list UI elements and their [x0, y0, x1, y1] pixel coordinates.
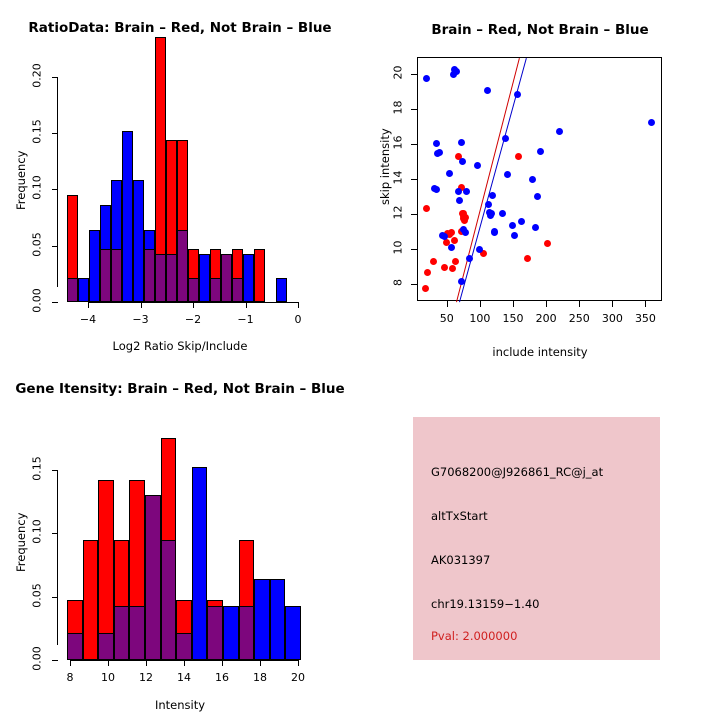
scatter-point-brain	[544, 240, 551, 247]
histogram-bar	[192, 467, 208, 660]
xtick-mark	[184, 660, 185, 666]
histogram-bar	[89, 230, 100, 302]
scatter-point-not-brain	[466, 255, 473, 262]
histogram-bar-overlap	[221, 254, 232, 302]
histogram-bar-overlap	[188, 278, 199, 302]
ratio-histogram-panel: RatioData: Brain – Red, Not Brain – Blue…	[0, 0, 360, 360]
gene-info-panel: G7068200@J926861_RC@j_at altTxStart AK03…	[413, 417, 660, 660]
ytick-label: 0.05	[31, 580, 44, 610]
scatter-point-not-brain	[448, 244, 455, 251]
scatter-point-not-brain	[458, 139, 465, 146]
ytick-label: 14	[392, 166, 405, 190]
xtick-label: −1	[232, 313, 260, 326]
xtick-label: 8	[56, 671, 84, 684]
gene-intensity-xlabel: Intensity	[0, 698, 360, 712]
histogram-bar-overlap	[232, 278, 243, 302]
scatter-point-brain	[524, 255, 531, 262]
histogram-bar-overlap	[100, 249, 111, 302]
ytick-label: 0.10	[31, 173, 44, 203]
intensity-scatter-plot-area	[417, 57, 662, 301]
scatter-point-brain	[460, 210, 467, 217]
ytick-mark	[411, 214, 417, 215]
scatter-point-not-brain	[511, 232, 518, 239]
ytick-mark	[52, 189, 58, 190]
histogram-bar	[270, 579, 286, 660]
histogram-bar-overlap	[155, 254, 166, 302]
xtick-mark	[298, 660, 299, 666]
histogram-bar	[243, 254, 254, 302]
xtick-mark	[612, 301, 613, 307]
ytick-mark	[411, 144, 417, 145]
scatter-point-brain	[423, 205, 430, 212]
histogram-bar	[223, 606, 239, 660]
ratio-histogram-plot-area	[62, 55, 307, 287]
histogram-bar-overlap	[67, 278, 78, 302]
ytick-label: 0.15	[31, 454, 44, 484]
scatter-point-not-brain	[484, 87, 491, 94]
ytick-mark	[52, 660, 58, 661]
scatter-point-not-brain	[455, 188, 462, 195]
histogram-bar-overlap	[67, 633, 83, 660]
ytick-mark	[52, 470, 58, 471]
info-locus: chr19.13159−1.40	[431, 597, 539, 611]
scatter-point-not-brain	[518, 218, 525, 225]
scatter-point-not-brain	[537, 148, 544, 155]
xtick-mark	[546, 301, 547, 307]
xtick-label: 350	[627, 312, 663, 325]
gene-intensity-histogram-panel: Gene Itensity: Brain – Red, Not Brain – …	[0, 360, 360, 720]
histogram-bar	[122, 131, 133, 302]
scatter-point-not-brain	[423, 75, 430, 82]
xtick-label: 12	[132, 671, 160, 684]
scatter-point-not-brain	[532, 224, 539, 231]
ytick-mark	[411, 109, 417, 110]
ytick-mark	[52, 246, 58, 247]
ytick-label: 0.10	[31, 517, 44, 547]
scatter-point-not-brain	[453, 68, 460, 75]
histogram-bar-overlap	[176, 633, 192, 660]
histogram-bar	[78, 278, 89, 302]
xtick-mark	[513, 301, 514, 307]
xtick-label: 14	[170, 671, 198, 684]
histogram-bar	[276, 278, 287, 302]
xtick-label: 16	[208, 671, 236, 684]
scatter-point-not-brain	[474, 162, 481, 169]
ytick-label: 0.15	[31, 116, 44, 146]
scatter-point-brain	[422, 285, 429, 292]
scatter-point-not-brain	[504, 171, 511, 178]
scatter-point-brain	[424, 269, 431, 276]
ratio-histogram-yaxis	[57, 77, 58, 288]
histogram-bar	[83, 540, 99, 660]
scatter-point-brain	[452, 258, 459, 265]
xtick-label: 50	[429, 312, 465, 325]
histogram-bar	[254, 249, 265, 302]
info-probe-id: G7068200@J926861_RC@j_at	[431, 465, 603, 479]
intensity-scatter-title: Brain – Red, Not Brain – Blue	[360, 22, 720, 38]
scatter-point-not-brain	[485, 201, 492, 208]
scatter-point-brain	[451, 237, 458, 244]
ytick-mark	[52, 533, 58, 534]
scatter-point-not-brain	[488, 210, 495, 217]
xtick-mark	[246, 302, 247, 308]
gene-intensity-title: Gene Itensity: Brain – Red, Not Brain – …	[0, 381, 360, 397]
ytick-mark	[411, 74, 417, 75]
ratio-histogram-title: RatioData: Brain – Red, Not Brain – Blue	[0, 20, 360, 36]
histogram-bar-overlap	[111, 249, 122, 302]
ytick-label: 16	[392, 131, 405, 155]
scatter-point-not-brain	[433, 140, 440, 147]
ytick-label: 0.20	[31, 60, 44, 90]
scatter-point-not-brain	[556, 128, 563, 135]
xtick-mark	[193, 302, 194, 308]
ytick-mark	[52, 77, 58, 78]
intensity-scatter-ylabel: skip intensity	[378, 128, 392, 205]
xtick-mark	[70, 660, 71, 666]
scatter-point-not-brain	[458, 278, 465, 285]
ytick-mark	[411, 249, 417, 250]
scatter-point-not-brain	[509, 222, 516, 229]
scatter-point-not-brain	[446, 170, 453, 177]
info-event-type: altTxStart	[431, 509, 488, 523]
intensity-scatter-xlabel: include intensity	[360, 345, 720, 359]
scatter-point-brain	[515, 153, 522, 160]
scatter-point-not-brain	[463, 188, 470, 195]
xtick-mark	[88, 302, 89, 308]
histogram-bar-overlap	[161, 540, 177, 660]
ytick-label: 18	[392, 96, 405, 120]
histogram-bar-overlap	[98, 633, 114, 660]
brain-fit-line	[456, 58, 520, 302]
xtick-mark	[146, 660, 147, 666]
histogram-bar-overlap	[166, 254, 177, 302]
xtick-label: 200	[528, 312, 564, 325]
ytick-label: 0.00	[31, 644, 44, 674]
scatter-point-not-brain	[459, 158, 466, 165]
ytick-label: 12	[392, 200, 405, 224]
scatter-point-not-brain	[534, 193, 541, 200]
histogram-bar-overlap	[177, 230, 188, 302]
scatter-point-brain	[449, 265, 456, 272]
scatter-point-not-brain	[489, 192, 496, 199]
xtick-mark	[108, 660, 109, 666]
xtick-mark	[222, 660, 223, 666]
xtick-label: 20	[284, 671, 312, 684]
xtick-mark	[141, 302, 142, 308]
histogram-bar-overlap	[144, 249, 155, 302]
xtick-mark	[447, 301, 448, 307]
histogram-bar-overlap	[210, 278, 221, 302]
xtick-label: −3	[127, 313, 155, 326]
scatter-point-not-brain	[514, 91, 521, 98]
xtick-label: −2	[179, 313, 207, 326]
intensity-scatter-panel: Brain – Red, Not Brain – Blue skip inten…	[360, 0, 720, 360]
gene-intensity-yaxis	[57, 470, 58, 645]
xtick-label: −4	[74, 313, 102, 326]
histogram-bar	[254, 579, 270, 660]
gene-intensity-plot-area	[62, 415, 307, 645]
xtick-mark	[260, 660, 261, 666]
ytick-label: 8	[392, 270, 405, 294]
scatter-point-not-brain	[436, 149, 443, 156]
scatter-point-not-brain	[529, 176, 536, 183]
ytick-mark	[411, 179, 417, 180]
scatter-point-not-brain	[433, 186, 440, 193]
histogram-bar-overlap	[114, 606, 130, 660]
ytick-mark	[52, 302, 58, 303]
scatter-point-not-brain	[462, 229, 469, 236]
xtick-mark	[480, 301, 481, 307]
histogram-bar-overlap	[207, 606, 223, 660]
info-pval: Pval: 2.000000	[431, 629, 517, 643]
xtick-label: 100	[462, 312, 498, 325]
xtick-label: 10	[94, 671, 122, 684]
ytick-label: 10	[392, 235, 405, 259]
xtick-label: 250	[561, 312, 597, 325]
xtick-label: 300	[594, 312, 630, 325]
xtick-label: 18	[246, 671, 274, 684]
info-accession: AK031397	[431, 553, 490, 567]
ytick-mark	[411, 284, 417, 285]
xtick-mark	[298, 302, 299, 308]
scatter-point-not-brain	[499, 210, 506, 217]
scatter-point-brain	[441, 264, 448, 271]
ytick-label: 0.05	[31, 229, 44, 259]
ytick-mark	[52, 597, 58, 598]
ytick-label: 20	[392, 61, 405, 85]
histogram-bar-overlap	[145, 495, 161, 660]
scatter-point-not-brain	[648, 119, 655, 126]
ratio-histogram-xlabel: Log2 Ratio Skip/Include	[0, 339, 360, 353]
ytick-mark	[52, 133, 58, 134]
histogram-bar	[199, 254, 210, 302]
histogram-bar	[133, 180, 144, 302]
histogram-bar-overlap	[239, 606, 255, 660]
scatter-point-not-brain	[456, 197, 463, 204]
xtick-label: 150	[495, 312, 531, 325]
ytick-label: 0.00	[31, 286, 44, 316]
xtick-label: 0	[284, 313, 312, 326]
histogram-bar-overlap	[129, 606, 145, 660]
gene-intensity-ylabel: Frequency	[14, 513, 28, 572]
histogram-bar	[285, 606, 301, 660]
scatter-point-not-brain	[502, 135, 509, 142]
scatter-point-brain	[430, 258, 437, 265]
xtick-mark	[579, 301, 580, 307]
xtick-mark	[645, 301, 646, 307]
ratio-histogram-ylabel: Frequency	[14, 151, 28, 210]
